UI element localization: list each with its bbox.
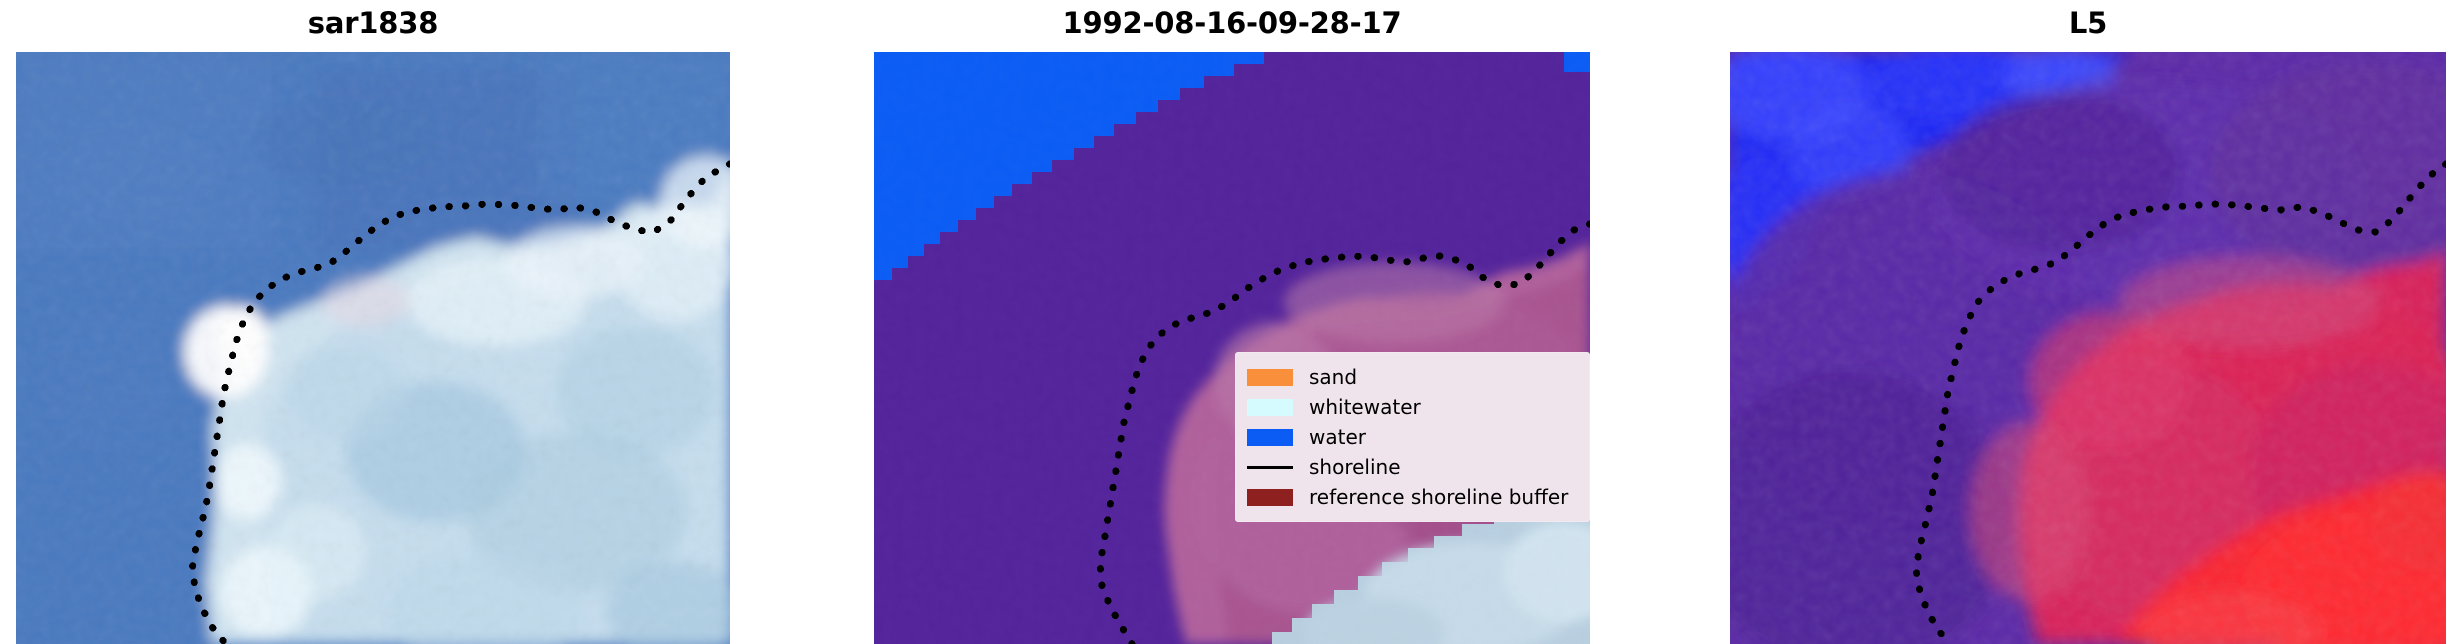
shoreline-line-icon [1247,459,1293,476]
classified-image [874,52,1590,644]
legend-label-whitewater: whitewater [1309,397,1421,417]
panel-classified: 1992-08-16-09-28-17 [874,0,1590,644]
panel-title-sar: sar1838 [16,6,730,40]
figure-canvas: sar1838 [0,0,2460,644]
map-legend: sand whitewater water shoreline referenc… [1235,352,1590,522]
whitewater-swatch-icon [1247,399,1293,416]
water-swatch-icon [1247,429,1293,446]
legend-item-reference-shoreline-buffer: reference shoreline buffer [1247,482,1579,512]
panel-title-classified: 1992-08-16-09-28-17 [874,6,1590,40]
legend-item-whitewater: whitewater [1247,392,1579,422]
legend-item-water: water [1247,422,1579,452]
legend-item-sand: sand [1247,362,1579,392]
sar-image [16,52,730,644]
panel-l5: L5 [1730,0,2446,644]
legend-label-sand: sand [1309,367,1357,387]
legend-label-shoreline: shoreline [1309,457,1401,477]
l5-image [1730,52,2446,644]
panel-title-l5: L5 [1730,6,2446,40]
legend-item-shoreline: shoreline [1247,452,1579,482]
legend-label-water: water [1309,427,1366,447]
legend-label-reference-shoreline-buffer: reference shoreline buffer [1309,487,1568,507]
panel-sar: sar1838 [16,0,730,644]
reference-shoreline-buffer-swatch-icon [1247,489,1293,506]
sand-swatch-icon [1247,369,1293,386]
